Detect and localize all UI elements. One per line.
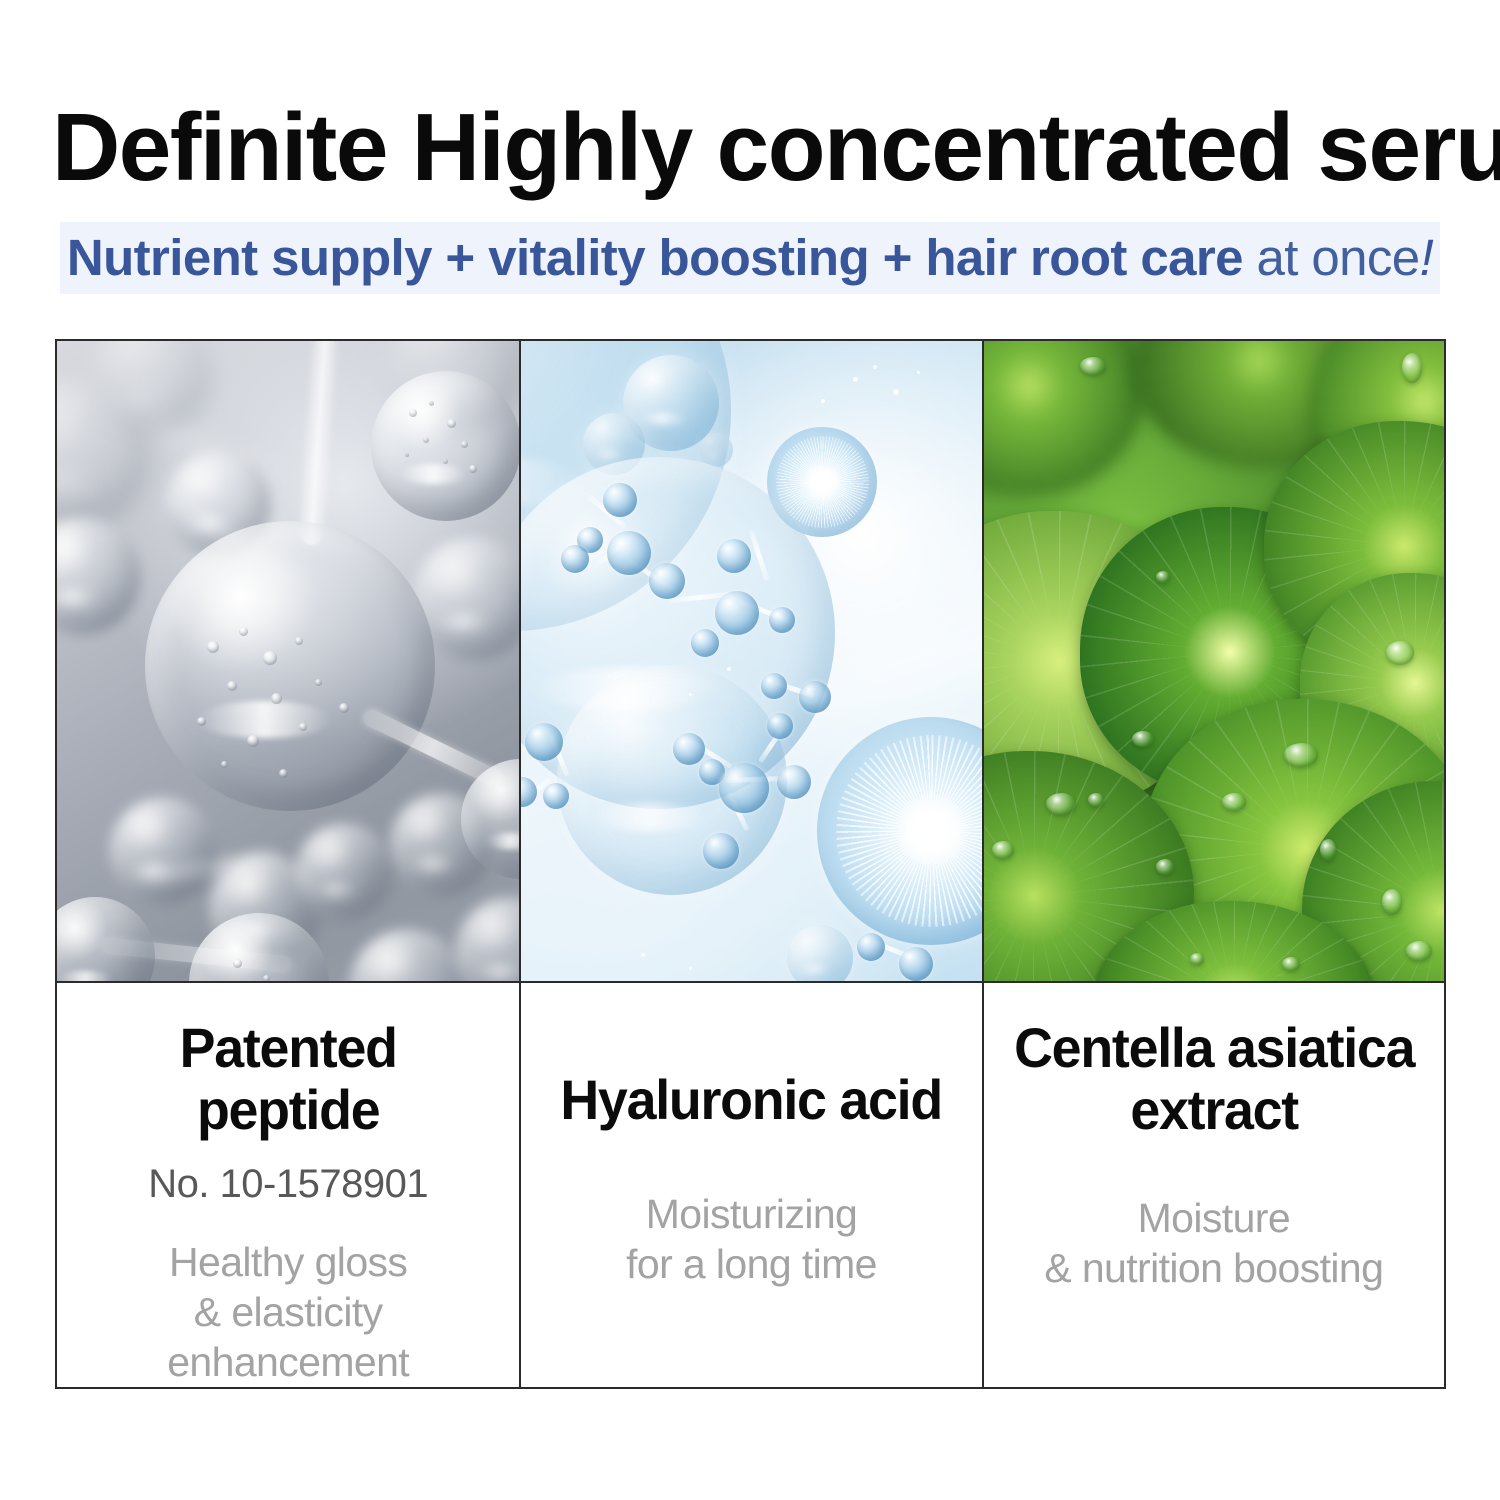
card-description-line-1: Moisture bbox=[1002, 1193, 1426, 1243]
card-description-centella: Moisture & nutrition boosting bbox=[1002, 1193, 1426, 1293]
card-description-line-1: Moisturizing bbox=[539, 1189, 963, 1239]
centella-leaf-image bbox=[982, 341, 1444, 981]
card-title-hyaluronic: Hyaluronic acid bbox=[548, 1069, 955, 1131]
ingredient-text-row: Patented peptide No. 10-1578901 Healthy … bbox=[57, 983, 1444, 1387]
page-title: Definite Highly concentrated serum bbox=[52, 100, 1431, 196]
infographic-page: Definite Highly concentrated serum Nutri… bbox=[0, 0, 1500, 1500]
ingredient-card-peptide: Patented peptide No. 10-1578901 Healthy … bbox=[57, 983, 519, 1387]
hyaluronic-bubble-image bbox=[519, 341, 981, 981]
card-patent-number: No. 10-1578901 bbox=[75, 1161, 501, 1207]
subtitle-exclamation: ! bbox=[1420, 229, 1434, 286]
ingredient-card-hyaluronic: Hyaluronic acid Moisturizing for a long … bbox=[519, 983, 981, 1387]
card-description-hyaluronic: Moisturizing for a long time bbox=[539, 1189, 963, 1289]
card-description-peptide: Healthy gloss & elasticity enhancement bbox=[75, 1237, 501, 1387]
ingredient-grid: Patented peptide No. 10-1578901 Healthy … bbox=[55, 339, 1446, 1389]
card-description-line-2: & nutrition boosting bbox=[1002, 1243, 1426, 1293]
card-title-spacer bbox=[539, 1017, 963, 1069]
peptide-molecule-image bbox=[57, 341, 519, 981]
subtitle-strong-text: Nutrient supply + vitality boosting + ha… bbox=[67, 229, 1243, 286]
card-description-line-2: & elasticity enhancement bbox=[75, 1287, 501, 1387]
card-title-peptide: Patented peptide bbox=[84, 1017, 493, 1141]
card-description-line-1: Healthy gloss bbox=[75, 1237, 501, 1287]
subtitle-highlight-band: Nutrient supply + vitality boosting + ha… bbox=[60, 222, 1440, 294]
card-description-line-2: for a long time bbox=[539, 1239, 963, 1289]
subtitle-light-text: at once bbox=[1243, 229, 1420, 286]
card-title-centella: Centella asiatica extract bbox=[1010, 1017, 1417, 1141]
card-title-line-2: extract bbox=[1010, 1079, 1417, 1141]
card-title-line-1: Centella asiatica bbox=[1010, 1017, 1417, 1079]
ingredient-image-row bbox=[57, 341, 1444, 983]
ingredient-card-centella: Centella asiatica extract Moisture & nut… bbox=[982, 983, 1444, 1387]
subtitle-line: Nutrient supply + vitality boosting + ha… bbox=[67, 228, 1433, 288]
